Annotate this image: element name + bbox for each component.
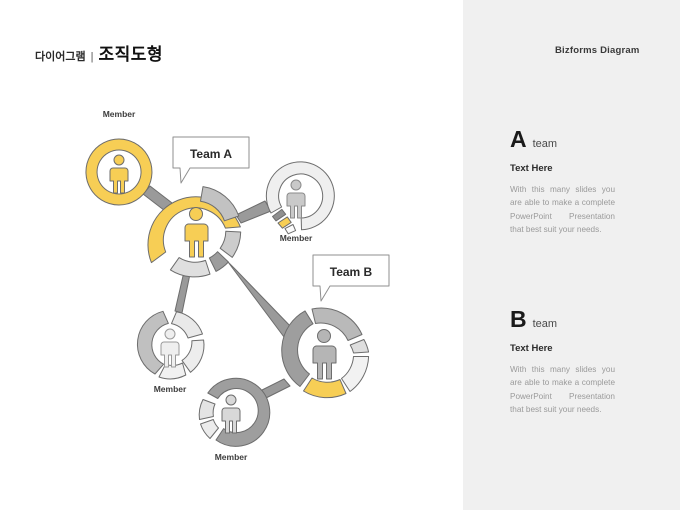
connector-huba-to-hubb xyxy=(228,262,294,337)
node-member-top-left[interactable]: Member xyxy=(86,109,152,205)
team-b-body: With this many slides you are able to ma… xyxy=(510,363,615,416)
callout-team-a-label: Team A xyxy=(190,147,232,161)
hub-a-arc-light-bottom xyxy=(170,258,210,277)
hub-a-arc-gray-2 xyxy=(220,231,241,257)
person-icon-hub-a xyxy=(185,208,208,258)
brand-label: Bizforms Diagram xyxy=(555,45,640,56)
callout-team-b-label: Team B xyxy=(330,265,373,279)
callout-team-a[interactable]: Team A xyxy=(173,137,249,183)
node-hub-team-b[interactable] xyxy=(282,308,369,398)
person-icon-top-right xyxy=(287,180,305,218)
team-a-subtitle: Text Here xyxy=(510,163,670,174)
connector-huba-to-midleft xyxy=(175,274,190,313)
team-b-heading: B team xyxy=(510,308,670,331)
member-b-seg-pale-1 xyxy=(199,400,215,420)
hub-b-arc-yellow-bottom xyxy=(304,378,347,398)
connector-huba-to-topright xyxy=(236,201,271,223)
org-chart-diagram: .ol{stroke:#6d6d6d;stroke-width:1;stroke… xyxy=(0,0,463,510)
team-a-body: With this many slides you are able to ma… xyxy=(510,183,615,236)
team-b-subtitle: Text Here xyxy=(510,343,670,354)
team-a-letter: A xyxy=(510,128,527,151)
person-icon-bottom xyxy=(222,395,240,433)
node-label-member-top-left: Member xyxy=(103,109,136,119)
member-ml-arc-pale-right xyxy=(182,340,204,372)
team-a-word: team xyxy=(533,138,557,150)
node-label-member-mid-left: Member xyxy=(154,384,187,394)
slide: 다이어그램 | 조직도형 .ol{stroke:#6d6d6d;stroke-w… xyxy=(0,0,680,510)
callout-team-b[interactable]: Team B xyxy=(313,255,389,301)
hub-a-arc-gray-3 xyxy=(209,252,228,272)
node-label-member-bottom: Member xyxy=(215,452,248,462)
team-b-word: team xyxy=(533,318,557,330)
hub-b-arc-pale-right xyxy=(342,357,369,392)
person-icon-mid-left xyxy=(161,329,179,367)
team-block-b: B team Text Here With this many slides y… xyxy=(510,308,670,416)
hub-b-seg-light-right xyxy=(350,340,368,354)
node-member-top-right[interactable]: Member xyxy=(266,162,334,243)
team-a-heading: A team xyxy=(510,128,670,151)
person-icon-top-left xyxy=(110,155,128,193)
member-ml-arc-pale-top xyxy=(172,312,203,338)
member-b-seg-pale-2 xyxy=(201,420,219,439)
person-icon-hub-b xyxy=(313,330,336,380)
node-member-mid-left[interactable]: Member xyxy=(137,311,204,394)
side-panel: Bizforms Diagram A team Text Here With t… xyxy=(463,0,680,510)
node-member-bottom[interactable]: Member xyxy=(199,378,270,462)
team-block-a: A team Text Here With this many slides y… xyxy=(510,128,670,236)
node-label-member-top-right: Member xyxy=(280,233,313,243)
team-b-letter: B xyxy=(510,308,527,331)
